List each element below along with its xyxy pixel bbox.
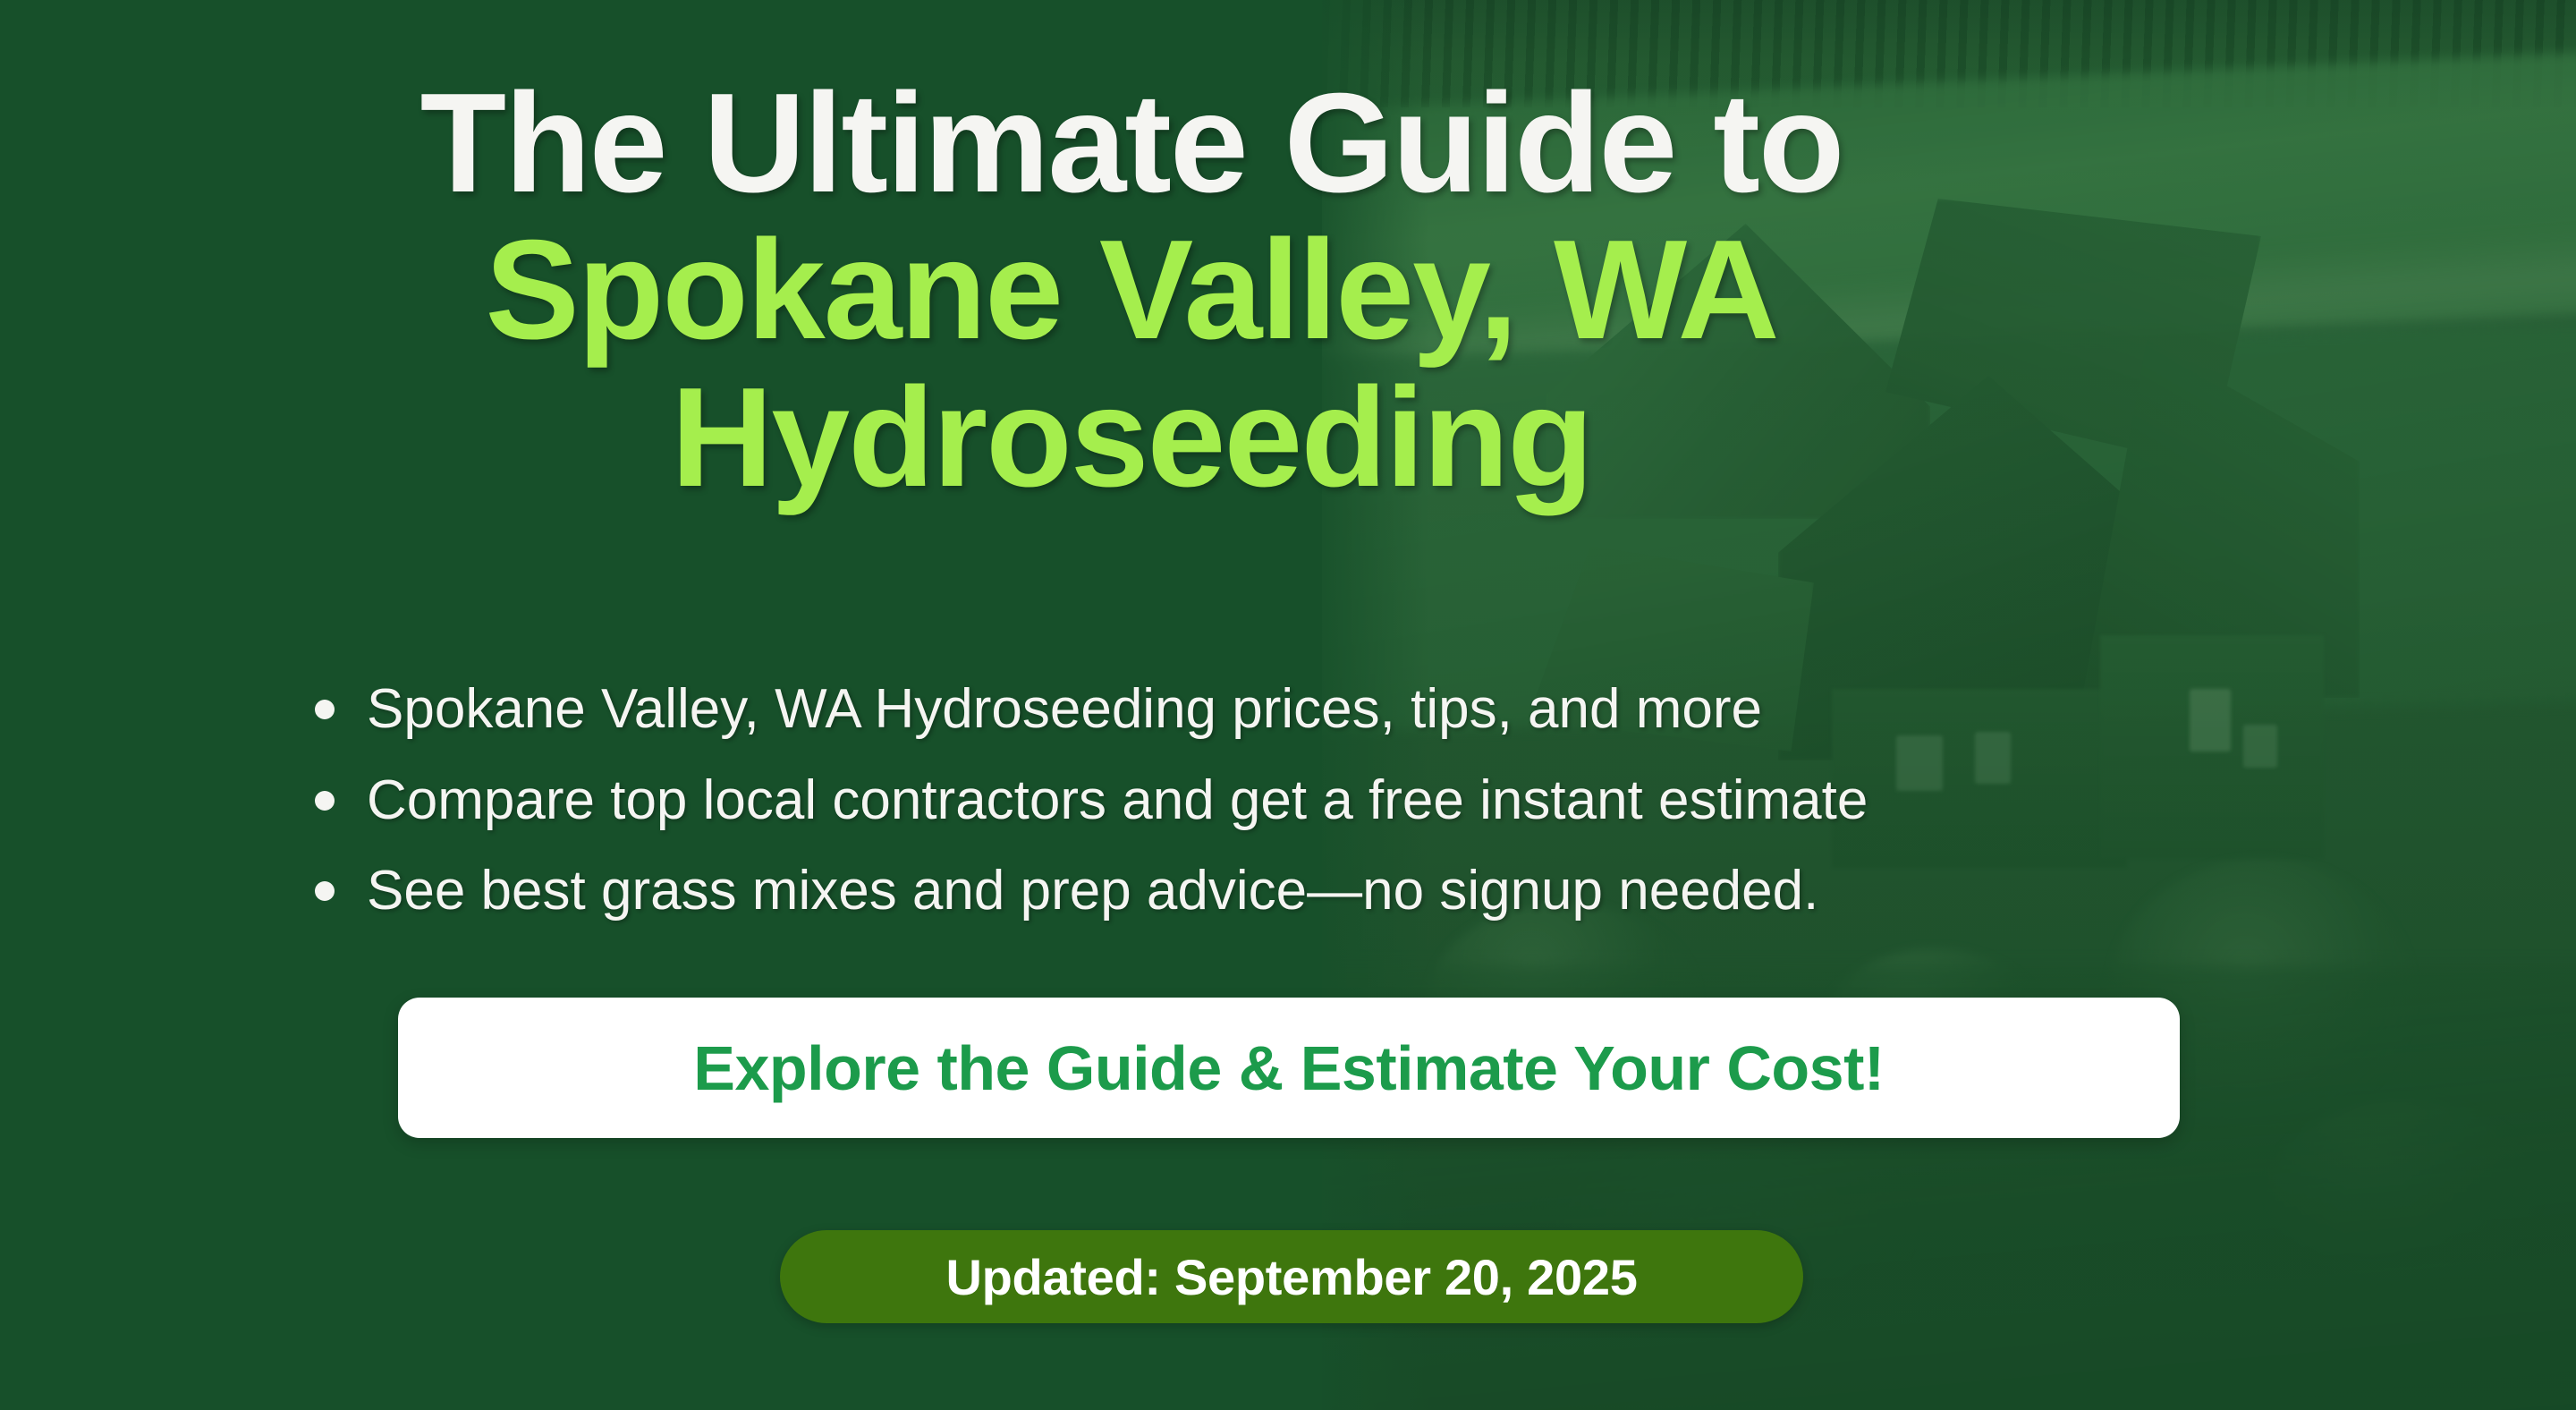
banner-content: The Ultimate Guide to Spokane Valley, WA… <box>0 0 2576 1410</box>
last-updated-badge: Updated: September 20, 2025 <box>780 1230 1803 1323</box>
page-title: The Ultimate Guide to Spokane Valley, WA… <box>0 70 2263 511</box>
list-item-label: See best grass mixes and prep advice—no … <box>367 862 1818 921</box>
cta-button-label: Explore the Guide & Estimate Your Cost! <box>693 1032 1885 1104</box>
headline-line-1: The Ultimate Guide to <box>0 70 2263 217</box>
bullet-dot-icon <box>315 700 335 719</box>
bullet-dot-icon <box>315 791 335 811</box>
list-item-label: Spokane Valley, WA Hydroseeding prices, … <box>367 680 1762 739</box>
list-item: Compare top local contractors and get a … <box>315 771 1868 830</box>
hero-banner: The Ultimate Guide to Spokane Valley, WA… <box>0 0 2576 1410</box>
list-item: Spokane Valley, WA Hydroseeding prices, … <box>315 680 1868 739</box>
explore-guide-cta-button[interactable]: Explore the Guide & Estimate Your Cost! <box>398 998 2180 1138</box>
list-item-label: Compare top local contractors and get a … <box>367 771 1868 830</box>
headline-line-2: Spokane Valley, WA <box>0 217 2263 363</box>
bullet-dot-icon <box>315 881 335 901</box>
feature-bullet-list: Spokane Valley, WA Hydroseeding prices, … <box>315 680 1868 953</box>
headline-line-3: Hydroseeding <box>0 364 2263 511</box>
last-updated-label: Updated: September 20, 2025 <box>945 1248 1637 1306</box>
list-item: See best grass mixes and prep advice—no … <box>315 862 1868 921</box>
